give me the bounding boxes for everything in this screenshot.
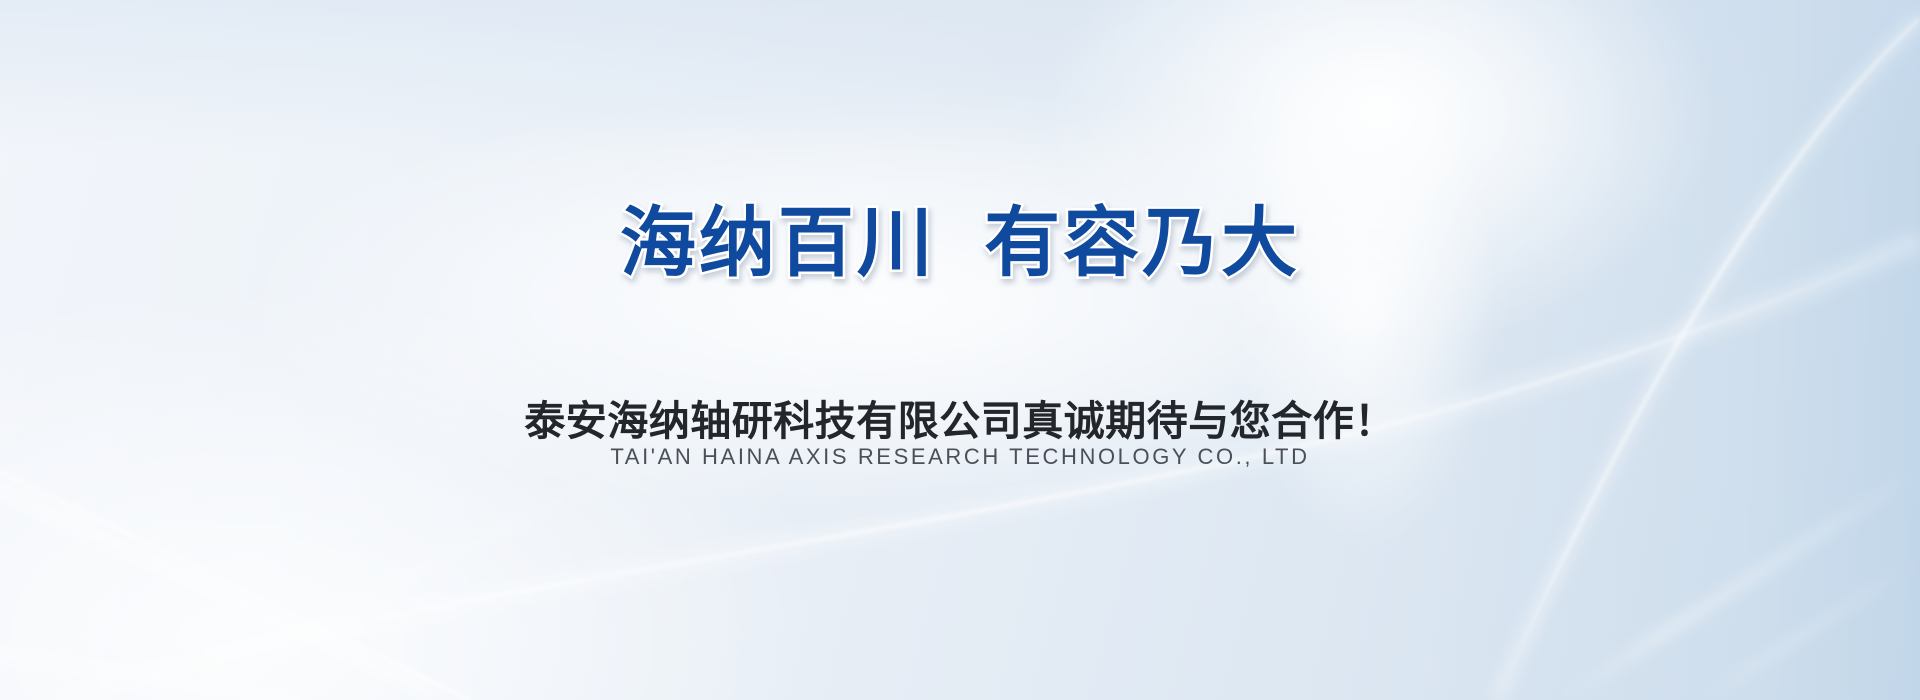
banner-headline: 海纳百川 有容乃大	[0, 196, 1920, 292]
banner-subtitle-english: TAI'AN HAINA AXIS RESEARCH TECHNOLOGY CO…	[0, 442, 1920, 472]
banner-content: 海纳百川 有容乃大 泰安海纳轴研科技有限公司真诚期待与您合作！ TAI'AN H…	[0, 0, 1920, 700]
banner-subtitle-chinese: 泰安海纳轴研科技有限公司真诚期待与您合作！	[0, 395, 1920, 447]
hero-banner: 海纳百川 有容乃大 泰安海纳轴研科技有限公司真诚期待与您合作！ TAI'AN H…	[0, 0, 1920, 700]
